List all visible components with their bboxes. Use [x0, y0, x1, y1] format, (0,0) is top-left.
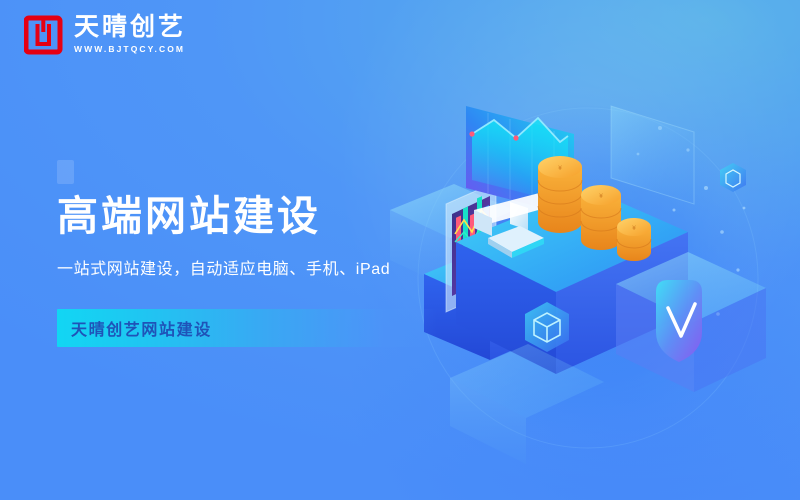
site-logo[interactable]: 天晴创艺 WWW.BJTQCY.COM	[24, 14, 186, 55]
isometric-web-development-scene: ¥ ¥ ¥	[388, 92, 788, 472]
logo-brand-text: 天晴创艺	[74, 14, 186, 40]
logo-url-text: WWW.BJTQCY.COM	[74, 43, 186, 55]
shield-with-check-icon	[656, 280, 702, 362]
decorative-tab	[57, 160, 74, 184]
hero-copy-block: 高端网站建设 一站式网站建设，自动适应电脑、手机、iPad 天晴创艺网站建设	[57, 160, 437, 347]
page-title: 高端网站建设	[57, 192, 437, 240]
svg-text:¥: ¥	[558, 165, 562, 172]
hero-subtitle: 一站式网站建设，自动适应电脑、手机、iPad	[57, 259, 437, 281]
cta-button-label: 天晴创艺网站建设	[57, 316, 212, 340]
hero-banner: 天晴创艺 WWW.BJTQCY.COM 高端网站建设 一站式网站建设，自动适应电…	[0, 0, 800, 500]
tianqing-square-logo-icon	[24, 15, 64, 55]
svg-text:¥: ¥	[599, 193, 603, 200]
cta-button[interactable]: 天晴创艺网站建设	[57, 309, 437, 347]
svg-text:¥: ¥	[632, 225, 636, 232]
